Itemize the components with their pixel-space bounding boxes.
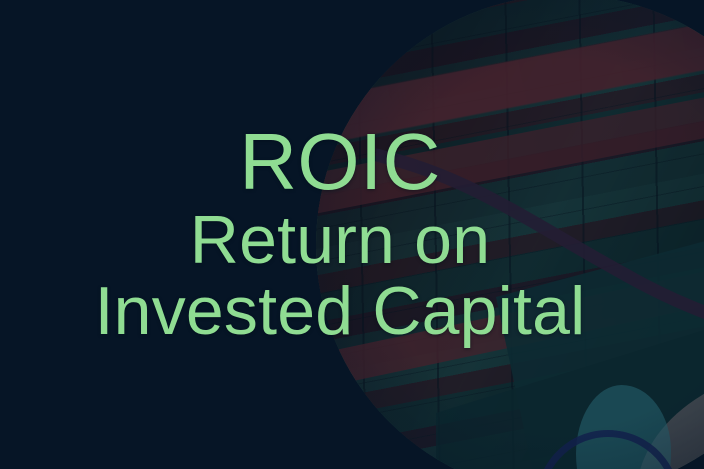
circular-photo — [316, 0, 704, 469]
slide-canvas: ROIC Return on Invested Capital — [0, 0, 704, 469]
